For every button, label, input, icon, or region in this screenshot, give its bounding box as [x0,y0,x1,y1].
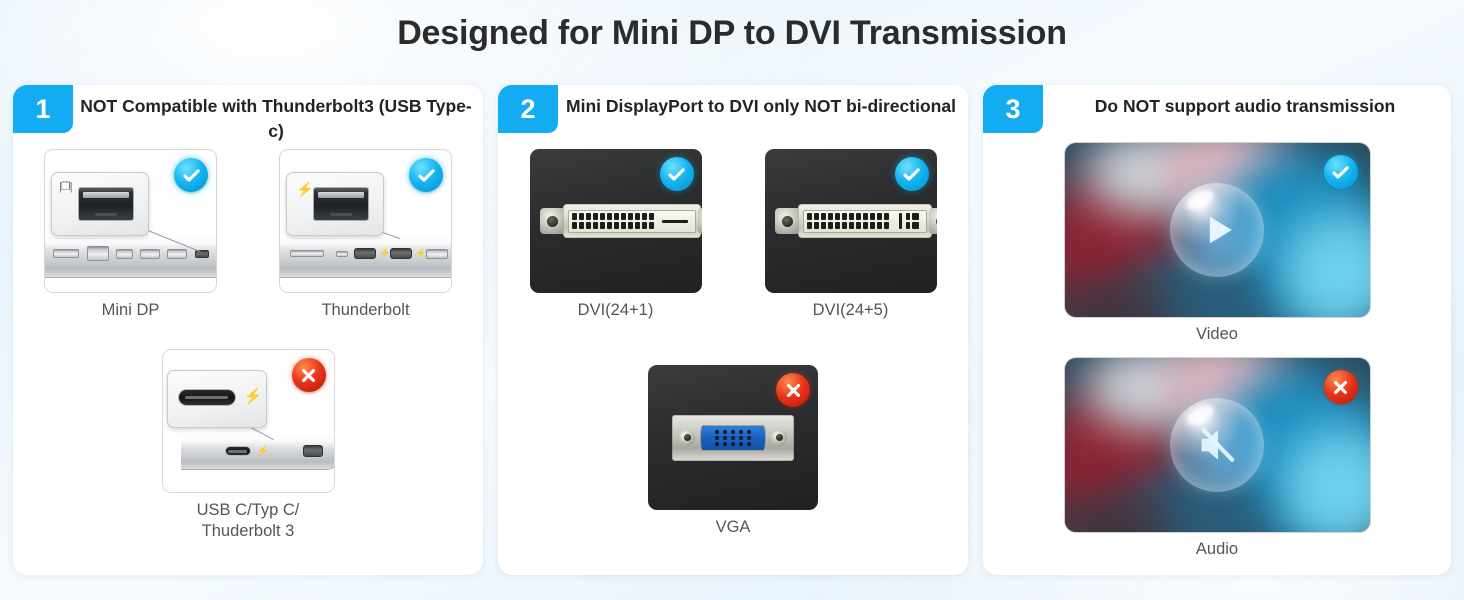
usbc-callout: ⚡ [167,370,267,428]
panel1-top-figures: |❐| Mini DP [13,149,483,321]
figure-caption-usbc: USB C/Typ C/ Thuderbolt 3 [197,500,300,542]
port-usb-2 [167,249,187,259]
port-firewire [116,249,133,259]
dvi-flat-blade [662,220,688,223]
panel-not-compatible-thunderbolt3: 1 NOT Compatible with Thunderbolt3 (USB … [13,85,483,575]
speaker-mute-icon [1193,421,1241,469]
laptop-minidp-image: |❐| [44,149,217,293]
status-badge-check [660,157,694,191]
bolt-icon: ⚡ [244,389,263,404]
panel-number-badge-2: 2 [498,85,558,133]
check-icon [416,165,437,186]
vga-connector [672,415,794,461]
port-sdcard [336,251,348,257]
port-usb-3 [426,249,448,259]
status-badge-check [895,157,929,191]
thunderbolt-port-closeup [313,187,369,221]
status-badge-cross [1324,370,1358,404]
panel2-bottom-figure: VGA [498,365,968,538]
port-usbc-onboard [225,446,251,456]
figure-audio: Audio [1065,358,1370,559]
panel2-top-figures: DVI(24+1) [498,149,968,321]
dvi-shell [563,204,701,238]
laptop-thunderbolt-image: ⚡ ⚡ ⚡ [279,149,452,293]
check-icon [1330,162,1351,183]
dvi-24-5-image [765,149,937,293]
figure-caption-mini-dp: Mini DP [102,300,160,321]
status-badge-check [174,158,208,192]
figure-mini-dp: |❐| Mini DP [13,149,248,321]
figure-video: Video [1065,143,1370,344]
laptop-usbc-image: ⚡ ⚡ [162,349,335,493]
dvi-connector-24-1 [540,202,692,240]
panel-number-badge-3: 3 [983,85,1043,133]
panel-title-3: Do NOT support audio transmission [1049,94,1441,119]
vga-dsub-port [700,425,766,451]
check-icon [181,165,202,186]
panel-title-2: Mini DisplayPort to DVI only NOT bi-dire… [564,94,958,119]
vga-screw-left [679,430,695,446]
dvi-pin-area [568,210,696,233]
dvi-connector-24-5 [775,202,927,240]
dvi-screw-right [929,208,937,234]
status-badge-cross [776,373,810,407]
thunderbolt-bolt-icon-2: ⚡ [415,249,426,258]
vga-screw-right [771,430,787,446]
figure-caption-vga: VGA [716,517,751,538]
vga-pin-row-2 [715,436,751,440]
figure-caption-video: Video [1065,325,1370,344]
minidp-callout: |❐| [51,172,149,236]
status-badge-check [409,158,443,192]
bolt-icon: ⚡ [296,182,313,196]
figure-caption-audio: Audio [1065,540,1370,559]
dvi-analog-pins [897,213,919,229]
figure-caption-dvi-24-1: DVI(24+1) [578,300,654,321]
vga-image [648,365,818,510]
figure-thunderbolt: ⚡ ⚡ ⚡ Thunderbolt [248,149,483,321]
port-vent [290,250,324,257]
status-badge-cross [292,358,326,392]
port-secondary [303,445,323,457]
port-magsafe [53,249,79,258]
dvi-screw-right [698,208,702,234]
figure-caption-dvi-24-5: DVI(24+5) [813,300,889,321]
panel3-figures: Video [983,143,1451,559]
dvi-shell [798,204,932,238]
display-icon: |❐| [59,182,72,193]
figure-caption-thunderbolt: Thunderbolt [321,300,409,321]
page-title: Designed for Mini DP to DVI Transmission [0,14,1464,53]
port-usb-1 [140,249,160,259]
cross-icon [298,365,319,386]
dvi-digital-pins [807,213,889,229]
port-thunderbolt-1 [354,248,376,259]
panel-no-audio-support: 3 Do NOT support audio transmission [983,85,1451,575]
check-icon [901,164,922,185]
cross-icon [783,380,804,401]
feature-panel-row: 1 NOT Compatible with Thunderbolt3 (USB … [13,85,1451,575]
figure-dvi-24-5: DVI(24+5) [733,149,968,321]
status-badge-check [1324,155,1358,189]
port-ethernet [87,246,109,261]
mute-bubble [1170,398,1264,492]
video-thumbnail-image [1065,143,1370,317]
figure-dvi-24-1: DVI(24+1) [498,149,733,321]
thunderbolt-bolt-icon-1: ⚡ [379,249,390,258]
panel-number-badge-1: 1 [13,85,73,133]
vga-pin-row-1 [715,430,751,434]
thunderbolt-bolt-icon: ⚡ [257,447,269,457]
dvi-24-1-image [530,149,702,293]
panel-title-1: NOT Compatible with Thunderbolt3 (USB Ty… [79,94,473,145]
audio-thumbnail-image [1065,358,1370,532]
panel-minidp-to-dvi-only: 2 Mini DisplayPort to DVI only NOT bi-di… [498,85,968,575]
cross-icon [1330,377,1351,398]
panel1-bottom-figure: ⚡ ⚡ USB C/Typ C/ Thuderbolt 3 [13,349,483,542]
vga-pin-row-3 [715,442,751,446]
check-icon [666,164,687,185]
play-icon [1193,206,1241,254]
thunderbolt-callout: ⚡ [286,172,384,236]
minidp-port-closeup [78,187,134,221]
usbc-port-closeup [178,389,236,406]
play-bubble [1170,183,1264,277]
dvi-digital-pins [572,213,654,229]
dvi-pin-area [803,210,927,233]
port-thunderbolt-2 [390,248,412,259]
